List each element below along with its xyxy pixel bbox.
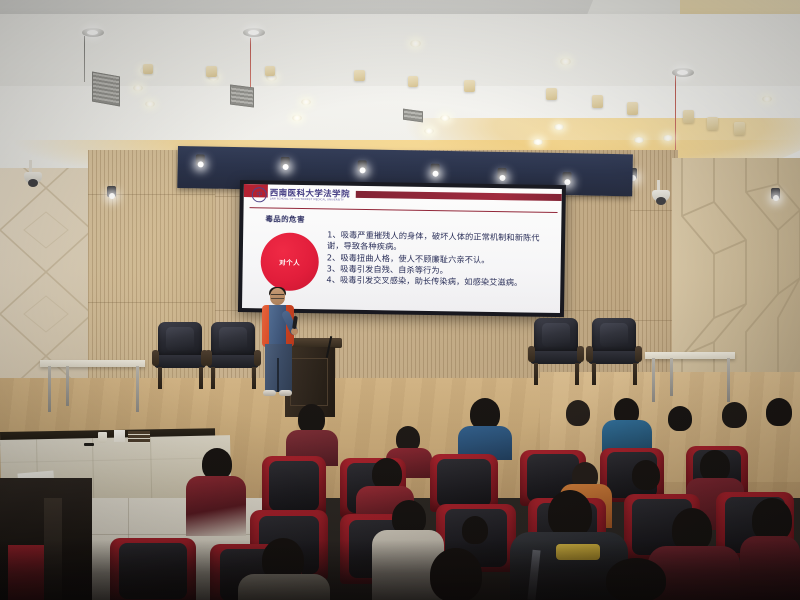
valance-track-light [562, 172, 571, 183]
auditorium-seat [110, 538, 196, 600]
wall-track-light [107, 186, 116, 197]
audience-head [566, 400, 590, 426]
institution-logo: 中 西南医科大学法学院 LAW SCHOOL OF SOUTHWEST MEDI… [252, 187, 350, 204]
box-light [354, 70, 365, 81]
chair-leg [199, 367, 203, 389]
presentation-slide: 中 西南医科大学法学院 LAW SCHOOL OF SOUTHWEST MEDI… [242, 184, 562, 313]
downlight [410, 40, 421, 47]
valance-track-light [196, 154, 205, 165]
table-leg [727, 358, 730, 402]
chair-back [592, 318, 636, 354]
chair-leg [575, 363, 579, 385]
box-light [265, 66, 275, 76]
slide-title: 毒品的危害 [265, 213, 305, 225]
pendant-wire-left [84, 36, 85, 82]
box-light [592, 95, 603, 108]
projection-screen-frame: 中 西南医科大学法学院 LAW SCHOOL OF SOUTHWEST MEDI… [238, 180, 566, 317]
downlight [634, 137, 644, 143]
box-light [734, 122, 745, 135]
pendant-spotlight-left [82, 28, 104, 37]
ceiling-air-vent-mid [230, 85, 254, 108]
chair-leg [534, 363, 538, 385]
audience-head [722, 402, 747, 428]
audience-area [0, 398, 800, 600]
auditorium-photo: 中 西南医科大学法学院 LAW SCHOOL OF SOUTHWEST MEDI… [0, 0, 800, 600]
pendant-spotlight-right [672, 68, 694, 77]
slide-header-bar [356, 191, 562, 201]
backpack-strap-accent [556, 544, 600, 560]
chair-arm [635, 346, 642, 362]
box-light [707, 117, 718, 130]
chair-arm [528, 346, 535, 362]
folding-table-right-top [645, 352, 735, 359]
eyeglasses-icon [271, 294, 284, 299]
box-light [627, 102, 638, 115]
downlight [424, 128, 434, 134]
downlight [301, 99, 311, 105]
chair-arm [586, 346, 593, 362]
slide-badge-label: 对个人 [279, 257, 300, 267]
chair-arm [152, 350, 159, 366]
audience-head [766, 398, 792, 426]
auditorium-seat [262, 456, 326, 516]
slide-bullet-list: 1、吸毒严重摧残人的身体，破坏人体的正常机制和新陈代谢，导致各种疾病。 2、吸毒… [326, 229, 553, 289]
chair-arm [254, 350, 261, 366]
slide-badge-circle: 对个人 [260, 232, 319, 291]
slide-bullet: 1、吸毒严重摧残人的身体，破坏人体的正常机制和新陈代谢，导致各种疾病。 [327, 229, 553, 255]
box-light [206, 66, 217, 77]
university-seal-icon: 中 [252, 187, 267, 202]
downlight [145, 101, 155, 107]
downlight [663, 135, 673, 141]
downlight [554, 124, 564, 130]
audience-head [462, 516, 488, 544]
downlight [440, 115, 450, 121]
chair-back [211, 322, 255, 358]
table-leg [670, 358, 673, 396]
chair-leg [633, 363, 637, 385]
valance-track-light [431, 164, 440, 175]
chair-leg [592, 363, 596, 385]
downlight [133, 85, 143, 91]
pendant-wire-mid [250, 38, 251, 93]
audience-head [548, 490, 592, 538]
wall-track-light [771, 188, 780, 199]
audience-head-front [606, 558, 666, 600]
audience-body [740, 536, 800, 600]
pendant-spotlight-mid [243, 28, 265, 37]
audience-head-front [430, 548, 482, 600]
box-light [683, 110, 694, 123]
ceiling-air-vent-left [92, 72, 120, 107]
chair-leg [252, 367, 256, 389]
audience-head [632, 460, 660, 490]
chair-back [534, 318, 578, 354]
downlight [560, 58, 571, 65]
audience-body [186, 476, 246, 536]
valance-track-light [358, 160, 367, 171]
speaker-shoe-right [279, 390, 292, 396]
downlight [533, 139, 543, 145]
chair-leg [158, 367, 162, 389]
audience-head [668, 406, 692, 431]
box-light [143, 64, 153, 74]
chair-arm [205, 350, 212, 366]
slide-bullet: 4、吸毒引发交叉感染，助长传染病，如感染艾滋病。 [326, 275, 552, 290]
chair-leg [211, 367, 215, 389]
valance-track-light [281, 157, 290, 168]
institution-name-en: LAW SCHOOL OF SOUTHWEST MEDICAL UNIVERSI… [270, 198, 350, 202]
audience-body [238, 574, 330, 600]
valance-track-light [497, 168, 506, 179]
box-light [408, 76, 418, 87]
chair-arm [577, 346, 584, 362]
downlight [762, 96, 772, 102]
box-light [464, 80, 475, 92]
table-leg [652, 358, 655, 402]
box-light [546, 88, 557, 100]
downlight [292, 115, 302, 121]
chair-back [158, 322, 202, 358]
folding-table-left-top [40, 360, 145, 367]
speaker-shoe-left [263, 390, 276, 396]
speaker-leg-split [277, 358, 279, 392]
